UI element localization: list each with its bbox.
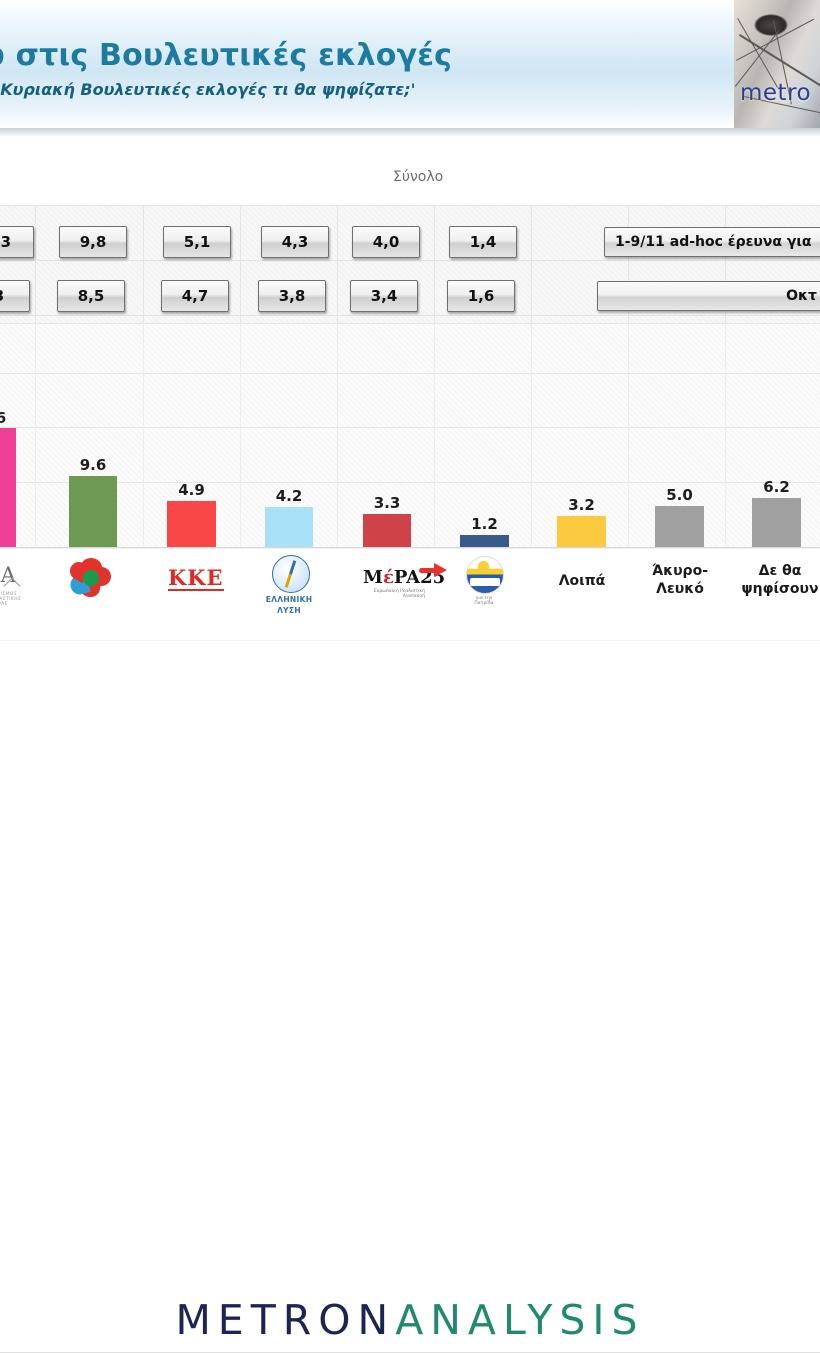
table-row2-legend: Οκτ 202 [597, 281, 820, 311]
bar-chart-plot-area: 6 9.6 4.9 4.2 3.3 1.2 3.2 5.0 6.2 [0, 323, 820, 548]
bar-value-elliniki-lysi: 4.2 [265, 487, 313, 505]
bar-value-pasok: 9.6 [69, 456, 117, 474]
bar-pasok [69, 476, 117, 547]
bar-mera25 [363, 514, 411, 547]
mera-arrow-icon [434, 563, 447, 577]
table-row1-value-5: 1,4 [449, 226, 517, 258]
spider-icon [754, 14, 788, 36]
table-row1-legend: 1-9/11 ad-hoc έρευνα για [604, 227, 820, 257]
logo-syriza: ZA ΣΥΝΑΣΠΙΣΜΟΣ ΡΙΖΟΣΠΑΣΤΙΚΗΣ ΑΡΙΣΤΕΡΑΣ [0, 563, 18, 587]
category-label-row: ZA ΣΥΝΑΣΠΙΣΜΟΣ ΡΙΖΟΣΠΑΣΤΙΚΗΣ ΑΡΙΣΤΕΡΑΣ K… [0, 548, 820, 641]
table-row2-value-1: 8,5 [57, 280, 125, 312]
pasok-rosette-icon [70, 558, 112, 598]
bar-value-ellines: 1.2 [460, 515, 509, 533]
metron-wordmark: metro [740, 80, 811, 106]
metron-banner-logo: metro [734, 0, 820, 128]
elliniki-lysi-label-2: ΛΥΣΗ [259, 606, 319, 615]
header-banner: ρου στις Βουλευτικές εκλογές πόμενη Κυρι… [0, 0, 820, 128]
logo-kke: KKE [168, 567, 216, 591]
logo-ellines: για την Πατρίδα [466, 556, 502, 606]
bar-elliniki-lysi [265, 507, 313, 547]
ellines-emblem-icon [466, 556, 504, 594]
total-column-label: Σύνολο [393, 169, 443, 185]
bar-kke [167, 501, 216, 547]
logo-mera25: MέPA25 Ευρωπαϊκή Ρεαλιστική Ανυπακοή [363, 567, 425, 599]
table-row2-value-2: 4,7 [161, 280, 229, 312]
bar-value-de-tha-psifisoun: 6.2 [752, 478, 801, 496]
table-row1-value-0: ,3 [0, 226, 34, 258]
mera-e-label: έ [383, 567, 394, 588]
poll-infographic-page: ρου στις Βουλευτικές εκλογές πόμενη Κυρι… [0, 0, 820, 715]
metron-analysis-wordmark: METRONANALYSIS [0, 1296, 820, 1344]
bar-syriza [0, 428, 16, 547]
bar-value-syriza: 6 [0, 409, 16, 427]
category-label-dtp-2: ψηφίσουν [740, 581, 820, 599]
ellines-subtext: για την Πατρίδα [466, 596, 502, 606]
bar-value-loipa: 3.2 [557, 496, 606, 514]
bar-value-akyro-lefko: 5.0 [655, 486, 704, 504]
syriza-subtext: ΣΥΝΑΣΠΙΣΜΟΣ ΡΙΖΟΣΠΑΣΤΙΚΗΣ ΑΡΙΣΤΕΡΑΣ [0, 592, 21, 607]
table-row2-value-0: 3 [0, 280, 30, 312]
table-row2-value-5: 1,6 [447, 280, 515, 312]
footer-strip: METRONANALYSIS [0, 640, 820, 716]
table-row2-value-4: 3,4 [350, 280, 418, 312]
category-label-dtp-1: Δε θα [740, 563, 820, 581]
table-row1-value-2: 5,1 [163, 226, 231, 258]
category-label-loipa: Λοιπά [545, 573, 619, 591]
bar-value-kke: 4.9 [167, 481, 216, 499]
category-label-akyro-line2: Λευκό [643, 581, 717, 599]
logo-pasok [70, 558, 112, 598]
brand-metron: METRON [175, 1296, 395, 1344]
table-row1-value-1: 9,8 [59, 226, 127, 258]
elliniki-lysi-label-1: ΕΛΛΗΝΙΚΗ [259, 595, 319, 604]
page-title: ρου στις Βουλευτικές εκλογές [0, 38, 642, 73]
table-row1-value-4: 4,0 [352, 226, 420, 258]
page-subtitle: πόμενη Κυριακή Βουλευτικές εκλογές τι θα… [0, 80, 648, 99]
bar-de-tha-psifisoun [752, 498, 801, 547]
table-row1-value-3: 4,3 [261, 226, 329, 258]
bar-value-mera25: 3.3 [363, 494, 411, 512]
table-row2-value-3: 3,8 [258, 280, 326, 312]
category-label-akyro-line1: Άκυρο- [643, 563, 717, 581]
banner-shadow [0, 128, 820, 137]
brand-analysis: ANALYSIS [395, 1296, 644, 1344]
bar-ellines [460, 535, 509, 547]
mera-m-label: M [363, 567, 383, 588]
kke-label: KKE [168, 567, 224, 591]
bar-akyro-lefko [655, 506, 704, 547]
mera-subtext: Ευρωπαϊκή Ρεαλιστική Ανυπακοή [363, 589, 425, 599]
compass-icon [272, 555, 310, 593]
bar-loipa [557, 516, 606, 547]
logo-elliniki-lysi [272, 555, 306, 593]
